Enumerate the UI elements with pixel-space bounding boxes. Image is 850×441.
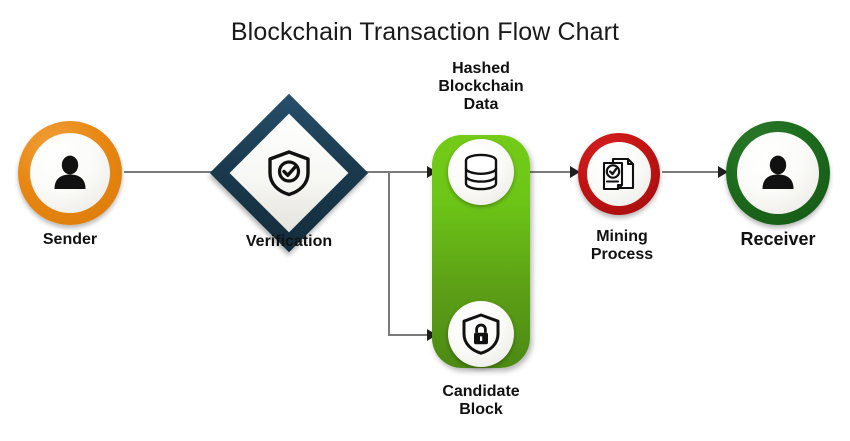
page-title: Blockchain Transaction Flow Chart [0,18,850,47]
connector-branch-vertical [388,171,390,336]
flowchart-canvas: Blockchain Transaction Flow Chart Sender [0,0,850,441]
person-icon [48,151,92,195]
receiver-disc [737,132,819,214]
label-sender: Sender [10,231,130,249]
label-receiver: Receiver [718,229,838,249]
verification-icon-wrap [233,117,345,229]
node-verification[interactable] [233,117,345,229]
node-mining-process[interactable] [578,133,660,215]
sender-disc [30,133,110,213]
label-verification: Verification [219,233,359,251]
person-icon [756,151,800,195]
node-receiver[interactable] [726,121,830,225]
label-mining-process: Mining Process [562,228,682,264]
node-sender[interactable] [18,121,122,225]
shield-check-icon [266,149,312,197]
label-candidate-block: Candidate Block [411,383,551,419]
node-green-block[interactable] [432,135,530,368]
mining-disc [587,142,651,206]
node-hashed-blockchain-data[interactable] [448,139,514,205]
database-icon [461,152,501,192]
label-hashed-blockchain-data: Hashed Blockchain Data [411,60,551,114]
shield-lock-icon [461,313,501,355]
documents-check-icon [599,154,639,194]
node-candidate-block[interactable] [448,301,514,367]
